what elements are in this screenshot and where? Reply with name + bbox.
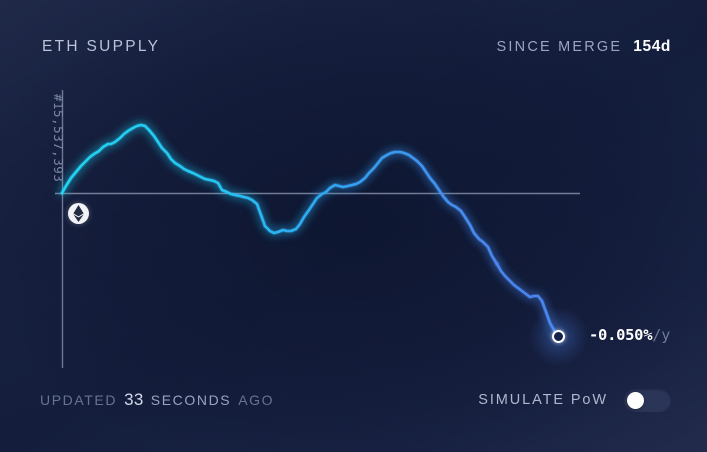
endpoint-dot-icon [552, 330, 565, 343]
toggle-knob-icon [627, 392, 644, 409]
last-updated-status: UPDATED 33 SECONDS AGO [40, 390, 274, 410]
ethereum-icon [68, 203, 89, 224]
since-merge-value: 154d [633, 38, 671, 56]
widget-header: ETH SUPPLY SINCE MERGE 154d [42, 34, 671, 60]
since-merge-label: SINCE MERGE [497, 39, 623, 55]
issuance-rate-unit: /y [652, 326, 670, 344]
updated-suffix-label: AGO [238, 392, 274, 408]
supply-chart[interactable] [0, 0, 707, 452]
simulate-pow-label: SIMULATE PoW [478, 392, 608, 408]
supply-line-glow [62, 125, 497, 264]
ethereum-diamond-glyph [73, 205, 84, 222]
supply-line-tail-glow [497, 264, 556, 334]
eth-supply-widget: ETH SUPPLY SINCE MERGE 154d [0, 0, 707, 452]
updated-unit-label: SECONDS [151, 392, 231, 408]
simulate-pow-control[interactable]: SIMULATE PoW [478, 389, 671, 412]
since-merge-readout: SINCE MERGE 154d [497, 38, 671, 56]
updated-prefix-label: UPDATED [40, 392, 117, 408]
supply-line [62, 125, 497, 264]
supply-at-merge-label: #15,537,393 [51, 94, 66, 182]
simulate-pow-toggle[interactable] [624, 389, 671, 412]
issuance-rate-value: -0.050% [589, 326, 652, 344]
chart-svg [0, 0, 707, 452]
updated-seconds-count: 33 [124, 390, 144, 410]
widget-footer: UPDATED 33 SECONDS AGO SIMULATE PoW [40, 386, 671, 414]
page-title: ETH SUPPLY [42, 38, 160, 56]
issuance-rate-readout: -0.050% /y [589, 326, 670, 344]
